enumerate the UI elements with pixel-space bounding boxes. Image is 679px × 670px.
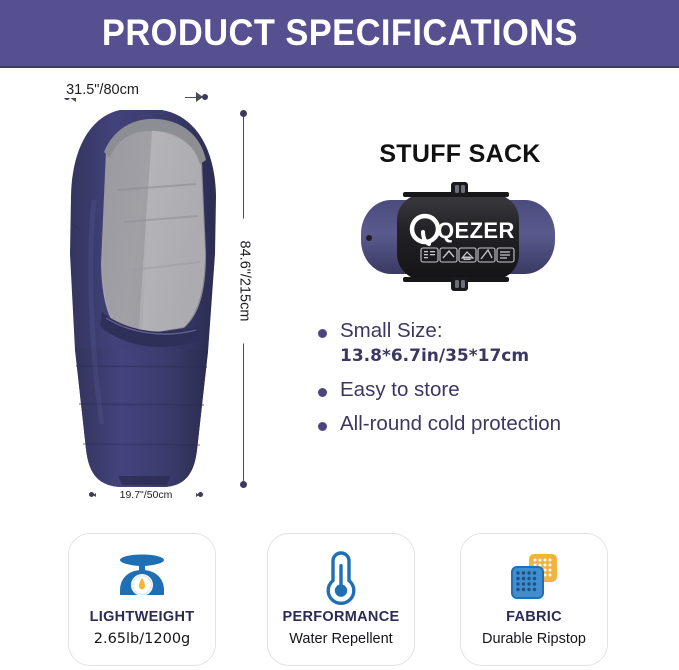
feature-card-value: Water Repellent	[289, 631, 392, 647]
main-content: 31.5"/80cm 84.6"/215cm 19.7"/50cm STUFF …	[0, 68, 679, 670]
stuff-sack-image: QEZER	[355, 178, 560, 296]
page-title: PRODUCT SPECIFICATIONS	[101, 12, 577, 54]
sack-grommet	[366, 235, 372, 241]
stuff-sack-feature-list: Small Size: 13.8*6.7in/35*17cm Easy to s…	[312, 318, 672, 446]
list-item: All-round cold protection	[312, 411, 672, 437]
buckle-detail	[455, 280, 459, 288]
feature-card-title: FABRIC	[506, 609, 562, 625]
endpoint-dot	[89, 492, 94, 497]
dimension-side-height: 84.6"/215cm	[238, 110, 250, 488]
feature-card-fabric: FABRIC Durable Ripstop	[460, 533, 608, 666]
bullet-dot-icon	[318, 329, 327, 338]
svg-text:QEZER: QEZER	[437, 218, 515, 243]
bullet-dot-icon	[318, 388, 327, 397]
buckle-detail	[455, 185, 459, 193]
feature-cards-row: LIGHTWEIGHT 2.65lb/1200g PERFORMANCE Wat…	[0, 533, 679, 670]
sack-bottom-buckle	[451, 277, 468, 291]
feature-card-value: Durable Ripstop	[482, 631, 586, 647]
fabric-swatch-icon	[505, 545, 563, 607]
thermometer-icon	[312, 545, 370, 607]
list-item-subtext: 13.8*6.7in/35*17cm	[340, 345, 672, 368]
endpoint-dot	[240, 481, 247, 488]
endpoint-dot	[198, 492, 203, 497]
header-banner: PRODUCT SPECIFICATIONS	[0, 0, 679, 68]
buckle-detail	[461, 185, 465, 193]
feature-card-title: PERFORMANCE	[283, 609, 400, 625]
bullet-dot-icon	[318, 422, 327, 431]
list-item: Easy to store	[312, 377, 672, 403]
endpoint-dot	[240, 110, 247, 117]
dimension-bottom-width: 19.7"/50cm	[88, 488, 204, 504]
sleeping-bag-image	[58, 104, 238, 494]
endpoint-dot	[202, 94, 208, 100]
feature-card-title: LIGHTWEIGHT	[90, 609, 195, 625]
sack-top-buckle	[451, 182, 468, 196]
dimension-side-height-label: 84.6"/215cm	[234, 219, 256, 344]
dimension-top-width-label: 31.5"/80cm	[20, 82, 185, 98]
list-item: Small Size: 13.8*6.7in/35*17cm	[312, 318, 672, 368]
feature-card-lightweight: LIGHTWEIGHT 2.65lb/1200g	[68, 533, 216, 666]
kitchen-scale-icon	[113, 545, 171, 607]
list-item-label: All-round cold protection	[340, 411, 672, 437]
baffle-seam	[83, 444, 200, 445]
sleeping-bag-panel: 31.5"/80cm 84.6"/215cm 19.7"/50cm	[0, 68, 300, 518]
feature-card-value: 2.65lb/1200g	[94, 631, 191, 647]
list-item-label: Easy to store	[340, 377, 672, 403]
bag-lining-inner	[142, 131, 205, 335]
bag-foot-end	[118, 476, 170, 485]
stuff-sack-title: STUFF SACK	[330, 140, 590, 169]
feature-card-performance: PERFORMANCE Water Repellent	[267, 533, 415, 666]
list-item-label: Small Size:	[340, 318, 672, 344]
dimension-bottom-width-label: 19.7"/50cm	[96, 489, 196, 501]
buckle-detail	[461, 280, 465, 288]
